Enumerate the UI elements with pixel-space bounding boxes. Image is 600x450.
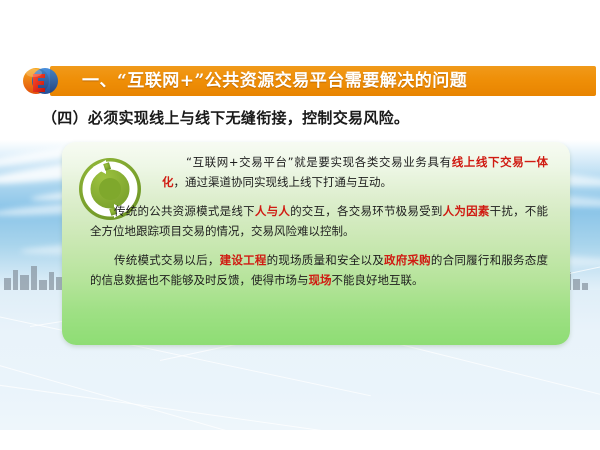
paragraph-3: 传统模式交易以后，建设工程的现场质量和安全以及政府采购的合同履行和服务态度的信息… bbox=[90, 250, 548, 290]
paragraph-2: 传统的公共资源模式是线下人与人的交互，各交易环节极易受到人为因素干扰，不能全方位… bbox=[90, 201, 548, 241]
highlighted-term: 政府采购 bbox=[384, 253, 431, 267]
body-text-run: 不能良好地互联。 bbox=[332, 273, 424, 287]
body-text-run: 传统模式交易以后， bbox=[114, 253, 220, 267]
body-text-run: ，通过渠道协同实现线上线下打通与互动。 bbox=[174, 175, 393, 189]
body-text-run: 传统的公共资源模式是线下 bbox=[114, 204, 255, 218]
body-text-run: 的现场质量和安全以及 bbox=[267, 253, 384, 267]
highlighted-term: 现场 bbox=[309, 273, 332, 287]
paragraph-1: “互联网+交易平台”就是要实现各类交易业务具有线上线下交易一体化，通过渠道协同实… bbox=[90, 152, 548, 192]
body-text-run: “互联网+交易平台”就是要实现各类交易业务具有 bbox=[186, 155, 452, 169]
body-text-run: 的交互，各交易环节极易受到 bbox=[290, 204, 443, 218]
subtitle-text: （四）必须实现线上与线下无缝衔接，控制交易风险。 bbox=[42, 107, 409, 128]
section-title-row: 一、“互联网+”公共资源交易平台需要解决的问题 bbox=[20, 62, 576, 100]
slide-canvas: 一、“互联网+”公共资源交易平台需要解决的问题 bbox=[0, 0, 600, 450]
card-paragraphs: “互联网+交易平台”就是要实现各类交易业务具有线上线下交易一体化，通过渠道协同实… bbox=[90, 152, 548, 299]
content-card: “互联网+交易平台”就是要实现各类交易业务具有线上线下交易一体化，通过渠道协同实… bbox=[62, 142, 570, 345]
section-title-text: 一、“互联网+”公共资源交易平台需要解决的问题 bbox=[82, 66, 467, 96]
highlighted-term: 人与人 bbox=[255, 204, 290, 218]
highlighted-term: 人为因素 bbox=[443, 204, 490, 218]
highlighted-term: 建设工程 bbox=[220, 253, 267, 267]
interlocking-circles-logo-icon bbox=[20, 62, 60, 100]
